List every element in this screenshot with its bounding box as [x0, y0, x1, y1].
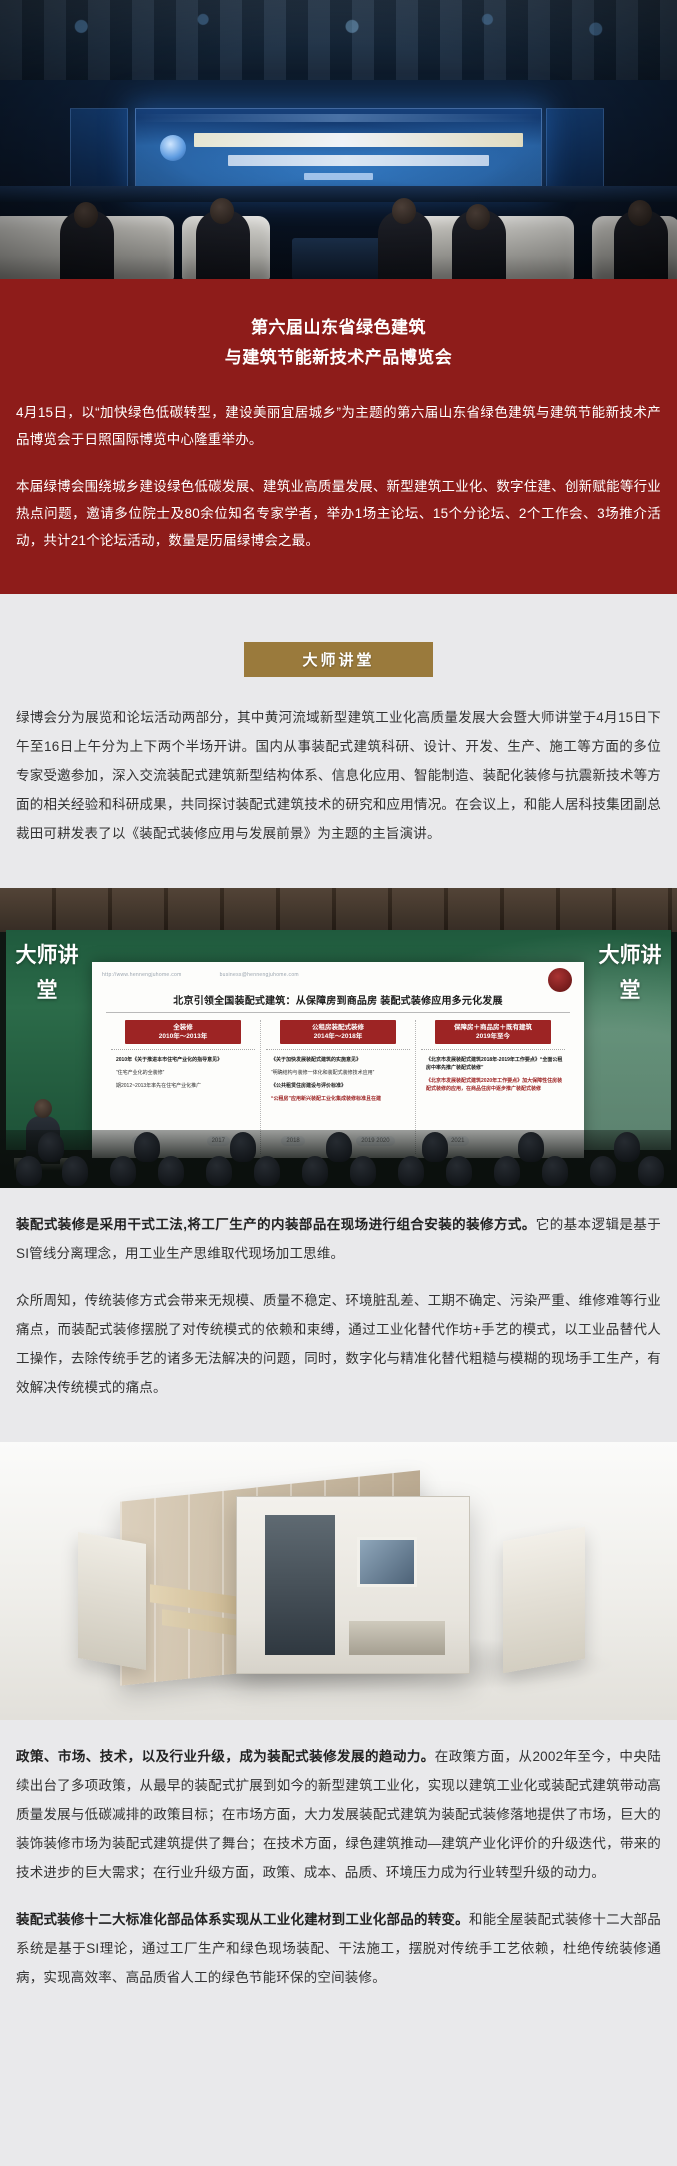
- paragraph-pain-points: 众所周知，传统装修方式会带来无规模、质量不稳定、环境脏乱差、工期不确定、污染严重…: [16, 1286, 661, 1424]
- audience-head: [638, 1156, 664, 1186]
- slide-divider: [111, 1049, 255, 1050]
- audience-head: [422, 1132, 448, 1162]
- slide-chip-line1: 保障房＋商品房＋既有建筑: [454, 1024, 532, 1031]
- slide-chip-line2: 2010年～2013年: [159, 1033, 207, 1040]
- backdrop-calligraphy-left: 大师讲堂: [14, 938, 80, 1008]
- slide-title: 北京引领全国装配式建筑：从保障房到商品房 装配式装修应用多元化发展: [106, 992, 570, 1013]
- slide-divider: [266, 1049, 410, 1050]
- slide-item: 《关于加快发展装配式建筑的实施意见》: [271, 1056, 410, 1064]
- audience-head: [350, 1156, 376, 1186]
- slide-chip-line1: 公租房装配式装修: [312, 1024, 364, 1031]
- audience-head: [254, 1156, 280, 1186]
- slide-item: “住宅产业化的全装修”: [116, 1069, 255, 1077]
- render-counter: [349, 1621, 445, 1655]
- paragraph-drivers-rest: 在政策方面，从2002年至今，中央陆续出台了多项政策，从最早的装配式扩展到如今的…: [16, 1749, 661, 1880]
- render-doorway: [265, 1515, 335, 1655]
- article-page: 第六届山东省绿色建筑 与建筑节能新技术产品博览会 4月15日，以“加快绿色低碳转…: [0, 0, 677, 2166]
- render-room-module: [236, 1496, 470, 1674]
- paragraph-dry-method: 装配式装修是采用干式工法,将工厂生产的内装部品在现场进行组合安装的装修方式。它的…: [16, 1188, 661, 1268]
- audience-head: [590, 1156, 616, 1186]
- render-slab-right: [503, 1527, 585, 1673]
- slide-chip-line2: 2019年至今: [476, 1033, 510, 1040]
- presentation-slide: http://www.hennengjuhome.com business@he…: [92, 962, 584, 1158]
- page-title-line2: 与建筑节能新技术产品博览会: [16, 343, 661, 373]
- slide-company-logo-icon: [548, 968, 572, 992]
- render-wall-art: [357, 1537, 417, 1587]
- lecture-hall-photo: 大师讲堂 大师讲堂 http://www.hennengjuhome.com b…: [0, 888, 677, 1188]
- backdrop-calligraphy-right: 大师讲堂: [597, 938, 663, 1008]
- hero-conference-photo: [0, 0, 677, 279]
- audience-head: [398, 1156, 424, 1186]
- audience-head: [326, 1132, 352, 1162]
- slide-url-right: business@hennengjuhome.com: [220, 972, 299, 978]
- slide-item: 《公共租赁住房建设与评价标准》: [271, 1082, 410, 1090]
- paragraph-twelve-systems-lead: 装配式装修十二大标准化部品体系实现从工业化建材到工业化部品的转变。: [16, 1912, 469, 1927]
- intro-paragraph-1: 4月15日，以“加快绿色低碳转型，建设美丽宜居城乡”为主题的第六届山东省绿色建筑…: [16, 399, 661, 453]
- intro-paragraph-2: 本届绿博会围绕城乡建设绿色低碳发展、建筑业高质量发展、新型建筑工业化、数字住建、…: [16, 473, 661, 554]
- master-lecture-banner-wrap: 大师讲堂: [0, 594, 677, 703]
- slide-column-chip: 全装修 2010年～2013年: [125, 1020, 241, 1044]
- audience-head: [542, 1156, 568, 1186]
- audience-head: [494, 1156, 520, 1186]
- slide-chip-line2: 2014年～2018年: [314, 1033, 362, 1040]
- section-banner-master-lecture: 大师讲堂: [244, 642, 432, 677]
- slide-column-chip: 保障房＋商品房＋既有建筑 2019年至今: [435, 1020, 551, 1044]
- slide-divider: [421, 1049, 565, 1050]
- audience-head: [206, 1156, 232, 1186]
- intro-red-panel: 第六届山东省绿色建筑 与建筑节能新技术产品博览会 4月15日，以“加快绿色低碳转…: [0, 279, 677, 594]
- paragraph-dry-method-lead: 装配式装修是采用干式工法,将工厂生产的内装部品在现场进行组合安装的装修方式。: [16, 1217, 536, 1232]
- slide-column-chip: 公租房装配式装修 2014年～2018年: [280, 1020, 396, 1044]
- lecture-ceiling: [0, 888, 677, 932]
- slide-url-left: http://www.hennengjuhome.com: [102, 972, 182, 978]
- slide-column-items: 《关于加快发展装配式建筑的实施意见》 “明确结构与装修一体化和装配式装修技术应用…: [266, 1056, 410, 1103]
- audience-head: [158, 1156, 184, 1186]
- modular-room-render-photo: [0, 1442, 677, 1720]
- slide-urls: http://www.hennengjuhome.com business@he…: [102, 972, 464, 978]
- slide-column-items: 《北京市发展装配式建筑2018年-2019年工作要点》“全面公租房中率先推广装配…: [421, 1056, 565, 1093]
- page-title: 第六届山东省绿色建筑 与建筑节能新技术产品博览会: [16, 313, 661, 373]
- paragraph-twelve-systems: 装配式装修十二大标准化部品体系实现从工业化建材到工业化部品的转变。和能全屋装配式…: [16, 1905, 661, 2014]
- slide-item: 2010年《关于推进本市住宅产业化的指导意见》: [116, 1056, 255, 1064]
- hero-vignette: [0, 0, 677, 279]
- paragraph-drivers: 政策、市场、技术，以及行业升级，成为装配式装修发展的趋动力。在政策方面，从200…: [16, 1720, 661, 1887]
- audience-head: [134, 1132, 160, 1162]
- content-area: 大师讲堂 绿博会分为展览和论坛活动两部分，其中黄河流域新型建筑工业化高质量发展大…: [0, 594, 677, 2014]
- slide-item: 期2012~2013年率先在住宅产业化推广: [116, 1082, 255, 1090]
- slide-chip-line1: 全装修: [173, 1024, 193, 1031]
- slide-item: 《北京市发展装配式建筑2020年工作要点》加大保障性住房装配式装修的应用，在商品…: [426, 1077, 565, 1093]
- audience-head: [302, 1156, 328, 1186]
- slide-item: “公租房”应用新兴装配工业化集成装修标准且在建: [271, 1095, 410, 1103]
- slide-item: “明确结构与装修一体化和装配式装修技术应用”: [271, 1069, 410, 1077]
- audience-head: [446, 1156, 472, 1186]
- audience-head: [518, 1132, 544, 1162]
- slide-item: 《北京市发展装配式建筑2018年-2019年工作要点》“全面公租房中率先推广装配…: [426, 1056, 565, 1072]
- audience-head: [110, 1156, 136, 1186]
- audience-head: [16, 1156, 42, 1186]
- render-slab-left: [78, 1532, 146, 1670]
- page-title-line1: 第六届山东省绿色建筑: [251, 318, 426, 337]
- audience-head: [614, 1132, 640, 1162]
- master-lecture-paragraph: 绿博会分为展览和论坛活动两部分，其中黄河流域新型建筑工业化高质量发展大会暨大师讲…: [16, 703, 661, 870]
- paragraph-drivers-lead: 政策、市场、技术，以及行业升级，成为装配式装修发展的趋动力。: [16, 1749, 435, 1764]
- lecture-audience: [0, 1130, 677, 1188]
- audience-head: [38, 1132, 64, 1162]
- audience-head: [230, 1132, 256, 1162]
- slide-column-items: 2010年《关于推进本市住宅产业化的指导意见》 “住宅产业化的全装修” 期201…: [111, 1056, 255, 1090]
- audience-head: [62, 1156, 88, 1186]
